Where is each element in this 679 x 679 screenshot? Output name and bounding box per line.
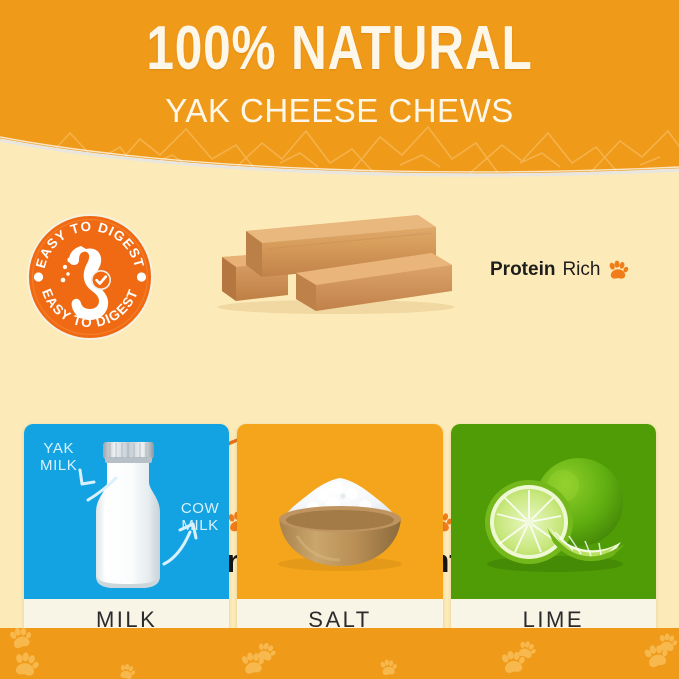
curved-divider: [0, 126, 679, 188]
product-infographic: 100% NATURAL YAK CHEESE CHEWS: [0, 0, 679, 679]
paw-print-pattern-icon: [0, 628, 679, 679]
page-subtitle: YAK CHEESE CHEWS: [0, 80, 679, 128]
ingredient-card-milk[interactable]: YAK MILK COW MILK: [24, 424, 229, 641]
salt-card-image: [237, 424, 442, 599]
page-title: 100% NATURAL: [68, 0, 611, 80]
paw-print-icon: [607, 260, 629, 280]
salt-bowl-icon: [237, 424, 442, 599]
ingredient-cards: YAK MILK COW MILK: [24, 424, 656, 641]
protein-rich-label: Protein Rich: [490, 259, 629, 281]
lime-fruit-icon: [451, 424, 656, 599]
badge-stamp-icon: EASY TO DIGEST EASY TO DIGEST: [24, 211, 156, 343]
lime-card-image: [451, 424, 656, 599]
hero-section: EASY TO DIGEST EASY TO DIGEST: [0, 175, 679, 420]
easy-to-digest-badge: EASY TO DIGEST EASY TO DIGEST: [24, 211, 156, 343]
protein-regular-word: Rich: [562, 259, 600, 281]
ingredient-card-salt[interactable]: SALT: [237, 424, 442, 641]
milk-card-image: YAK MILK COW MILK: [24, 424, 229, 599]
protein-bold-word: Protein: [490, 259, 555, 281]
footer-band: [0, 628, 679, 679]
product-image-chews: [196, 195, 471, 315]
yak-cheese-chews-icon: [196, 195, 471, 315]
ingredient-card-lime[interactable]: LIME: [451, 424, 656, 641]
milk-bottle-icon: [24, 424, 229, 599]
header-text-group: 100% NATURAL YAK CHEESE CHEWS: [0, 0, 679, 128]
